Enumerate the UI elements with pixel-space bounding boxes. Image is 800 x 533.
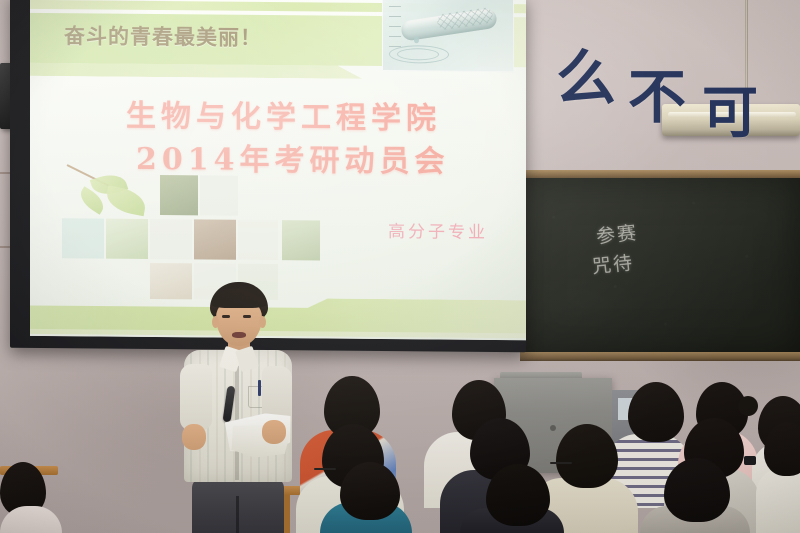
- tube-scale-marks: [389, 6, 401, 52]
- wall-character-3: 可: [702, 68, 758, 149]
- blackboard: 参赛 咒待: [520, 178, 800, 356]
- eyeglasses-icon-left: [314, 468, 336, 470]
- collage-cell-mint: [62, 218, 104, 258]
- wall-character-1: 么: [556, 30, 616, 117]
- slide-banner-text: 奋斗的青春最美丽！: [64, 20, 262, 52]
- podium-lock-icon: [550, 425, 556, 431]
- slide-major-label: 高分子专业: [388, 217, 488, 243]
- classroom-photo: 么 不 可 参赛 咒待 奋斗的青春最美丽！: [0, 0, 800, 533]
- student-teal-shirt-head: [340, 462, 400, 520]
- blackboard-chalk-text-2: 咒待: [591, 248, 636, 279]
- water-droplet: [414, 36, 419, 43]
- eyeglasses-icon-center: [550, 462, 572, 464]
- collage-cell-sprout-2: [194, 219, 236, 259]
- presenter-hand-left: [182, 424, 206, 450]
- student-hair-bun: [738, 396, 758, 416]
- blackboard-chalk-dust: [520, 178, 800, 356]
- student-front-center-head: [486, 464, 550, 526]
- presenter: [178, 282, 296, 533]
- presenter-eye-left: [222, 315, 230, 318]
- collage-cell-blank-2: [150, 219, 192, 259]
- presenter-eye-right: [243, 315, 251, 318]
- leaf-2: [104, 185, 148, 216]
- presenter-trouser-seam: [236, 496, 239, 533]
- collage-cell-blank-1: [200, 175, 238, 215]
- wristwatch-icon: [744, 456, 756, 465]
- collage-cell-sprout-1: [106, 219, 148, 259]
- test-tube-photo: [382, 0, 514, 72]
- collage-cell-blank-3: [238, 220, 278, 260]
- presenter-hand-right: [262, 420, 286, 444]
- presenter-mouth: [232, 332, 246, 338]
- presenter-ear-left: [212, 316, 219, 328]
- collage-cell-sprout-3: [282, 220, 320, 260]
- slide-title-line1: 生物与化学工程学院: [126, 91, 526, 138]
- presenter-arm-left: [180, 364, 212, 430]
- water-ripple-2: [389, 45, 449, 64]
- collage-cell-flower: [160, 175, 198, 215]
- student-white-polo-right-body: [756, 468, 800, 533]
- student-striped-polo-head: [628, 382, 684, 442]
- slide-photo-collage: [60, 168, 360, 301]
- chalk-tray: [520, 352, 800, 361]
- wall-character-2: 不: [628, 50, 686, 134]
- blackboard-chalk-text-1: 参赛: [595, 218, 640, 249]
- presenter-ear-right: [259, 316, 266, 328]
- pen-icon: [258, 380, 261, 396]
